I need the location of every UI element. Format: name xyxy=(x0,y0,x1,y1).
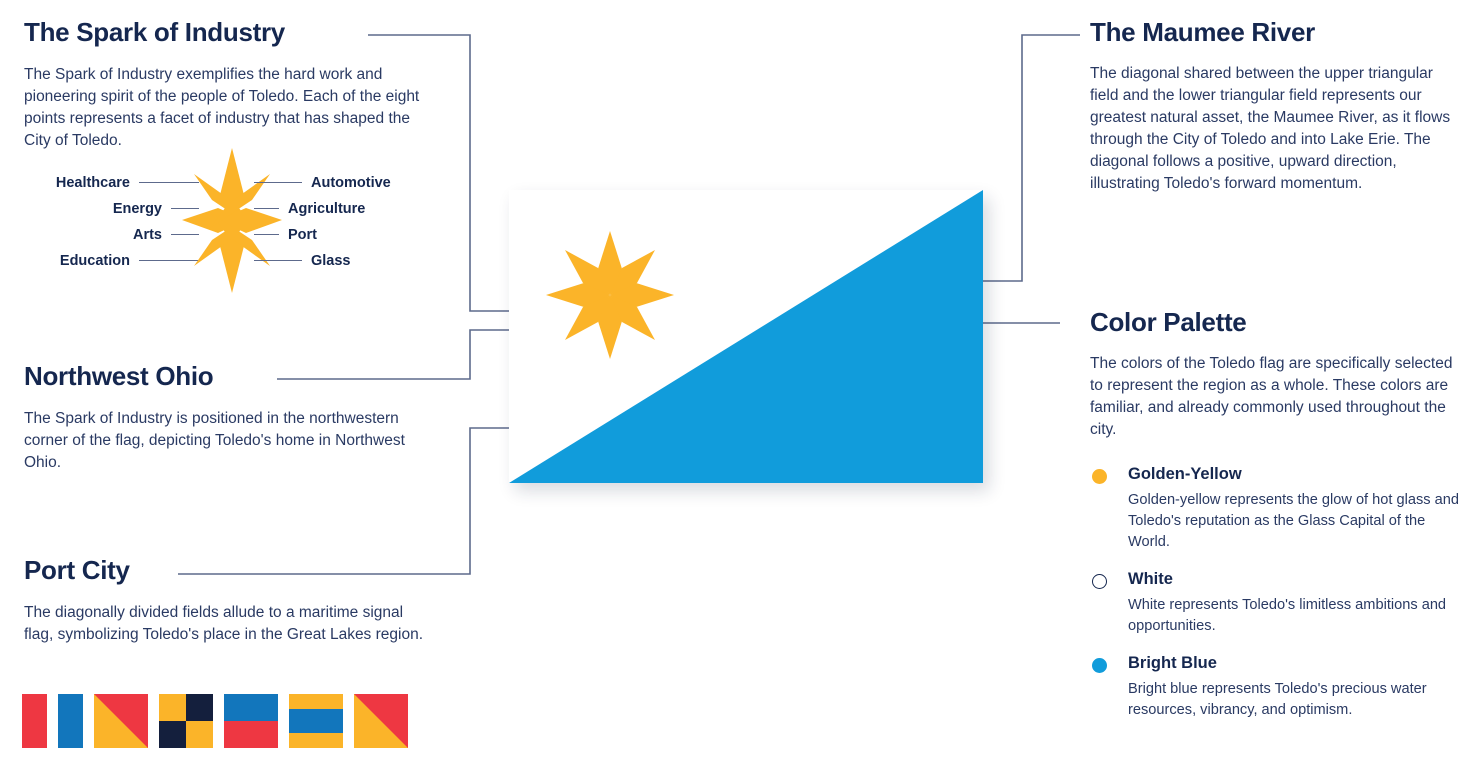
section-northwest-ohio: Northwest Ohio The Spark of Industry is … xyxy=(24,362,424,474)
swatch-white: White White represents Toledo's limitles… xyxy=(1090,570,1462,637)
swatch-bright-blue: Bright Blue Bright blue represents Toled… xyxy=(1090,654,1462,721)
facets-left-labels: Healthcare Energy Arts Education xyxy=(24,172,199,272)
color-swatch-list: Golden-Yellow Golden-yellow represents t… xyxy=(1090,465,1462,721)
facet-label-agriculture: Agriculture xyxy=(288,201,365,217)
signal-flag-1 xyxy=(22,694,47,748)
facet-label-glass: Glass xyxy=(311,253,351,269)
facet-label-arts: Arts xyxy=(133,227,162,243)
section-color-palette: Color Palette The colors of the Toledo f… xyxy=(1090,308,1462,738)
signal-flag-2 xyxy=(58,694,83,748)
signal-flag-6 xyxy=(289,694,343,748)
swatch-desc-bright-blue: Bright blue represents Toledo's precious… xyxy=(1128,679,1462,721)
facet-row-agriculture: Agriculture xyxy=(254,198,424,220)
maumee-title: The Maumee River xyxy=(1090,18,1462,47)
spark-body: The Spark of Industry exemplifies the ha… xyxy=(24,64,424,152)
signal-flag-5 xyxy=(224,694,278,748)
facet-rule-port xyxy=(254,234,279,236)
palette-title: Color Palette xyxy=(1090,308,1462,337)
port-title: Port City xyxy=(24,556,424,585)
swatch-label-golden-yellow: Golden-Yellow xyxy=(1128,465,1462,484)
swatch-dot-bright-blue xyxy=(1092,658,1107,673)
northwest-body: The Spark of Industry is positioned in t… xyxy=(24,408,424,474)
facet-label-energy: Energy xyxy=(113,201,162,217)
maritime-signal-flags xyxy=(22,694,408,748)
facet-row-port: Port xyxy=(254,224,424,246)
facet-rule-glass xyxy=(254,260,302,262)
facet-row-glass: Glass xyxy=(254,250,424,272)
swatch-label-white: White xyxy=(1128,570,1462,589)
swatch-label-bright-blue: Bright Blue xyxy=(1128,654,1462,673)
facets-right-labels: Automotive Agriculture Port Glass xyxy=(254,172,424,272)
swatch-dot-white xyxy=(1092,574,1107,589)
spark-title: The Spark of Industry xyxy=(24,18,424,47)
signal-flag-4 xyxy=(159,694,213,748)
toledo-flag-graphic xyxy=(509,190,983,483)
flag-svg xyxy=(509,190,983,483)
palette-body: The colors of the Toledo flag are specif… xyxy=(1090,353,1462,441)
flag-star-icon xyxy=(546,231,674,359)
facet-label-education: Education xyxy=(60,253,130,269)
infographic-canvas: The Spark of Industry The Spark of Indus… xyxy=(0,0,1478,784)
facet-label-port: Port xyxy=(288,227,317,243)
facet-row-arts: Arts xyxy=(24,224,199,246)
facet-rule-agriculture xyxy=(254,208,279,210)
northwest-title: Northwest Ohio xyxy=(24,362,424,391)
section-port-city: Port City The diagonally divided fields … xyxy=(24,556,424,646)
signal-flag-3 xyxy=(94,694,148,748)
facet-row-healthcare: Healthcare xyxy=(24,172,199,194)
facet-row-energy: Energy xyxy=(24,198,199,220)
swatch-desc-white: White represents Toledo's limitless ambi… xyxy=(1128,595,1462,637)
signal-flag-7 xyxy=(354,694,408,748)
facet-label-healthcare: Healthcare xyxy=(56,175,130,191)
swatch-golden-yellow: Golden-Yellow Golden-yellow represents t… xyxy=(1090,465,1462,553)
port-body: The diagonally divided fields allude to … xyxy=(24,602,424,646)
facet-rule-automotive xyxy=(254,182,302,184)
facet-row-automotive: Automotive xyxy=(254,172,424,194)
facet-label-automotive: Automotive xyxy=(311,175,391,191)
maumee-body: The diagonal shared between the upper tr… xyxy=(1090,63,1462,195)
swatch-dot-golden-yellow xyxy=(1092,469,1107,484)
section-maumee-river: The Maumee River The diagonal shared bet… xyxy=(1090,18,1462,195)
swatch-desc-golden-yellow: Golden-yellow represents the glow of hot… xyxy=(1128,490,1462,553)
section-spark-of-industry: The Spark of Industry The Spark of Indus… xyxy=(24,18,424,277)
industry-facets-diagram: Healthcare Energy Arts Education xyxy=(24,172,424,277)
connector-maumee xyxy=(983,35,1080,281)
facet-row-education: Education xyxy=(24,250,199,272)
